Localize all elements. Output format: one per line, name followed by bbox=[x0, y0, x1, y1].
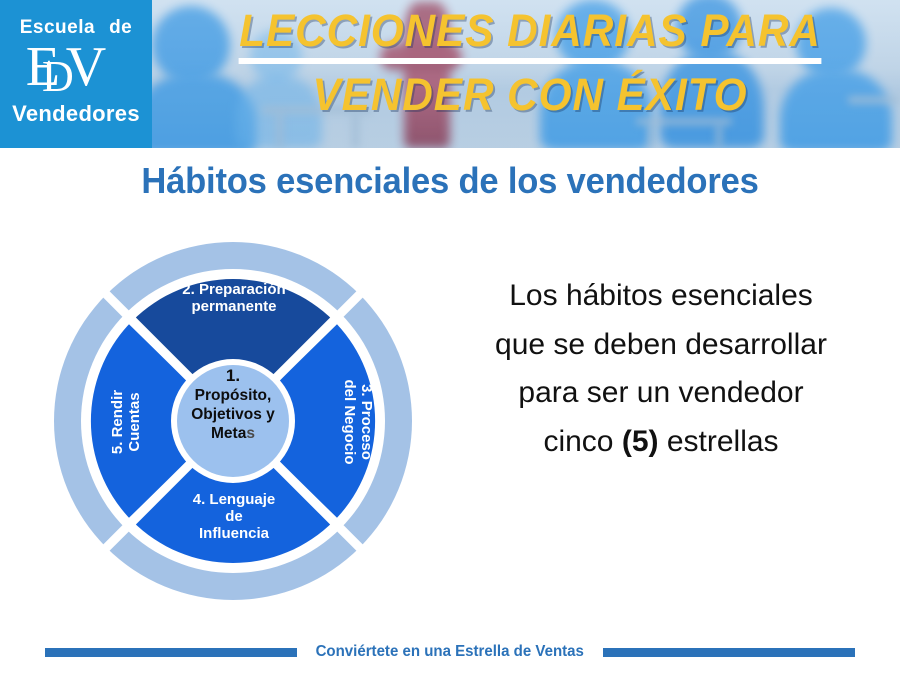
description-line-4-pre: cinco bbox=[543, 425, 621, 458]
logo-line-vendedores: Vendedores bbox=[0, 103, 152, 125]
wheel-core-number: 1. bbox=[153, 366, 313, 387]
description-line-1: Los hábitos esenciales bbox=[430, 272, 892, 321]
wheel-core-line3-tail: s bbox=[246, 425, 255, 442]
brand-logo: Escuelade EDV Vendedores bbox=[0, 0, 152, 148]
page-title: Hábitos esenciales de los vendedores bbox=[18, 160, 882, 202]
logo-line-escuela-de: Escuelade bbox=[0, 18, 152, 37]
banner-title-line-1: LECCIONES DIARIAS PARA bbox=[182, 8, 878, 54]
description-line-4-post: estrellas bbox=[659, 425, 779, 458]
wheel-core-label: 1. Propósito, Objetivos y Metas bbox=[153, 366, 313, 443]
wheel-core-line3-bold: Meta bbox=[211, 425, 246, 442]
footer-bar-left bbox=[45, 648, 297, 657]
logo-monogram-letter-v: V bbox=[66, 41, 104, 95]
description-line-2: que se deben desarrollar bbox=[430, 321, 892, 370]
footer: Conviértete en una Estrella de Ventas bbox=[0, 640, 900, 664]
banner-title: LECCIONES DIARIAS PARA VENDER CON ÉXITO bbox=[182, 8, 878, 118]
logo-word-escuela: Escuela bbox=[20, 17, 95, 38]
banner-title-line-2: VENDER CON ÉXITO bbox=[182, 72, 878, 118]
wheel-core-line3: Metas bbox=[153, 425, 313, 444]
logo-word-de: de bbox=[109, 17, 132, 38]
logo-monogram-edv: EDV bbox=[0, 41, 152, 101]
habitos-wheel-diagram: 2. Preparación permanente 3. Proceso del… bbox=[52, 240, 414, 602]
banner-divider-rule bbox=[239, 58, 822, 64]
description-line-4: cinco (5) estrellas bbox=[430, 418, 892, 467]
footer-bar-right bbox=[603, 648, 855, 657]
wheel-core-line1: Propósito, bbox=[153, 387, 313, 406]
footer-tagline: Conviértete en una Estrella de Ventas bbox=[316, 643, 584, 661]
header-banner: Escuelade EDV Vendedores LECCIONES DIARI… bbox=[0, 0, 900, 148]
description-paragraph: Los hábitos esenciales que se deben desa… bbox=[430, 272, 892, 466]
wheel-core-line2: Objetivos y bbox=[153, 406, 313, 425]
description-line-3: para ser un vendedor bbox=[430, 369, 892, 418]
description-line-4-emphasis: (5) bbox=[622, 425, 659, 458]
